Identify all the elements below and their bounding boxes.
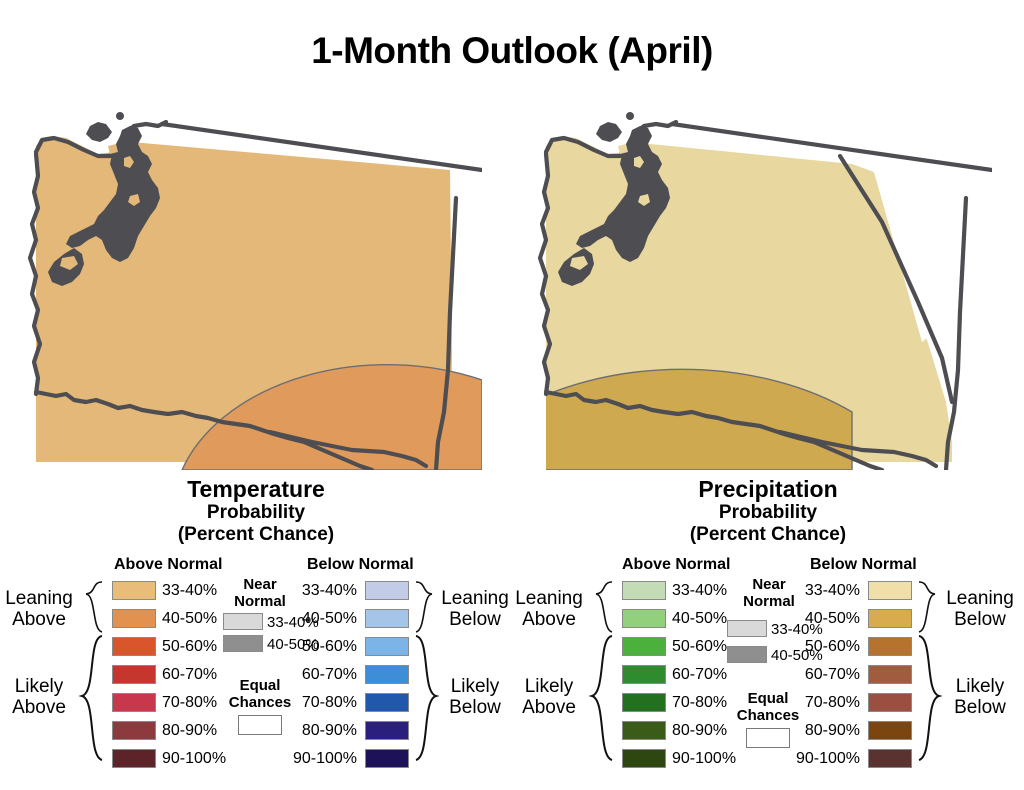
above-normal-header-precip: Above Normal — [622, 556, 730, 574]
temp-below-pct-60-70: 60-70% — [297, 665, 357, 684]
temp-above-pct-80-90: 80-90% — [162, 721, 217, 740]
likely-above-label-line2: Above — [0, 697, 78, 718]
temp-below-pct-50-60: 50-60% — [297, 637, 357, 656]
equal-chances-swatch[interactable] — [238, 715, 282, 735]
temp-below-pct-33-40: 33-40% — [297, 581, 357, 600]
temp-below-swatch-90-100[interactable] — [365, 749, 409, 768]
precip-below-swatch-60-70[interactable] — [868, 665, 912, 684]
legend-subtitle-probability-precip: Probability — [512, 502, 1024, 524]
precip-below-pct-80-90: 80-90% — [800, 721, 860, 740]
likely-below-label-precip-line2: Below — [938, 697, 1022, 718]
equal-chances-header-line2: Chances — [222, 694, 298, 711]
leaning-above-label-precip-line2: Above — [512, 609, 586, 630]
near-normal-header-precip-line1: Near — [734, 576, 804, 593]
temp-above-swatch-70-80[interactable] — [112, 693, 156, 712]
precip-near-normal-swatch-33-40[interactable] — [727, 620, 767, 637]
temp-above-swatch-40-50[interactable] — [112, 609, 156, 628]
temp-below-pct-70-80: 70-80% — [297, 693, 357, 712]
temp-above-pct-40-50: 40-50% — [162, 609, 217, 628]
likely-above-brace — [76, 634, 104, 762]
precip-near-normal-swatch-40-50[interactable] — [727, 646, 767, 663]
legend-subtitle-probability: Probability — [0, 502, 512, 524]
legend-subtitle-percent-chance: (Percent Chance) — [0, 524, 512, 546]
likely-below-label-line2: Below — [436, 697, 514, 718]
precip-above-pct-80-90: 80-90% — [672, 721, 727, 740]
temp-above-swatch-60-70[interactable] — [112, 665, 156, 684]
temp-below-swatch-60-70[interactable] — [365, 665, 409, 684]
precip-below-swatch-50-60[interactable] — [868, 637, 912, 656]
equal-chances-header-precip-line1: Equal — [730, 690, 806, 707]
temp-below-pct-80-90: 80-90% — [297, 721, 357, 740]
near-normal-header-line2: Normal — [225, 593, 295, 610]
precip-below-pct-40-50: 40-50% — [800, 609, 860, 628]
likely-below-label-line1: Likely — [436, 676, 514, 697]
precip-above-swatch-70-80[interactable] — [622, 693, 666, 712]
temp-above-pct-33-40: 33-40% — [162, 581, 217, 600]
precip-above-pct-33-40: 33-40% — [672, 581, 727, 600]
precip-below-swatch-33-40[interactable] — [868, 581, 912, 600]
likely-above-label-precip-line2: Above — [512, 697, 586, 718]
precip-above-pct-50-60: 50-60% — [672, 637, 727, 656]
leaning-above-brace-precip — [588, 580, 614, 634]
precip-above-pct-60-70: 60-70% — [672, 665, 727, 684]
precip-below-swatch-80-90[interactable] — [868, 721, 912, 740]
temp-near-normal-swatch-33-40[interactable] — [223, 613, 263, 630]
precipitation-outlook-map[interactable] — [522, 112, 992, 470]
precip-below-pct-50-60: 50-60% — [800, 637, 860, 656]
leaning-below-label-line2: Below — [436, 609, 514, 630]
temp-below-swatch-80-90[interactable] — [365, 721, 409, 740]
precip-below-swatch-40-50[interactable] — [868, 609, 912, 628]
leaning-below-label-precip-line1: Leaning — [938, 588, 1022, 609]
likely-above-label-precip-line1: Likely — [512, 676, 586, 697]
temp-above-pct-50-60: 50-60% — [162, 637, 217, 656]
precip-above-swatch-40-50[interactable] — [622, 609, 666, 628]
temp-below-pct-40-50: 40-50% — [297, 609, 357, 628]
legend-subtitle-percent-chance-precip: (Percent Chance) — [512, 524, 1024, 546]
leaning-below-label-line1: Leaning — [436, 588, 514, 609]
precipitation-legend-body: Above Normal Below Normal Leaning Above … — [512, 550, 1024, 765]
temp-below-swatch-40-50[interactable] — [365, 609, 409, 628]
leaning-above-brace — [78, 580, 104, 634]
temperature-outlook-map[interactable] — [12, 112, 482, 470]
temp-above-pct-90-100: 90-100% — [162, 749, 226, 768]
temp-above-swatch-50-60[interactable] — [112, 637, 156, 656]
likely-above-brace-precip — [586, 634, 614, 762]
leaning-above-label-line2: Above — [0, 609, 78, 630]
precip-below-pct-90-100: 90-100% — [795, 749, 860, 768]
precip-above-pct-40-50: 40-50% — [672, 609, 727, 628]
page-title: 1-Month Outlook (April) — [0, 30, 1024, 72]
leaning-above-label-precip-line1: Leaning — [512, 588, 586, 609]
temperature-legend: Temperature Probability (Percent Chance)… — [0, 476, 512, 790]
below-normal-header: Below Normal — [307, 556, 414, 574]
near-normal-header-precip-line2: Normal — [734, 593, 804, 610]
temp-below-pct-90-100: 90-100% — [292, 749, 357, 768]
precip-below-swatch-90-100[interactable] — [868, 749, 912, 768]
temp-below-swatch-50-60[interactable] — [365, 637, 409, 656]
precip-above-swatch-33-40[interactable] — [622, 581, 666, 600]
leaning-above-label-line1: Leaning — [0, 588, 78, 609]
leaning-below-label-precip-line2: Below — [938, 609, 1022, 630]
equal-chances-header-line1: Equal — [222, 677, 298, 694]
precipitation-legend: Precipitation Probability (Percent Chanc… — [512, 476, 1024, 790]
equal-chances-header-precip-line2: Chances — [730, 707, 806, 724]
below-normal-header-precip: Below Normal — [810, 556, 917, 574]
legend-title-temperature: Temperature — [0, 476, 512, 502]
precip-below-pct-70-80: 70-80% — [800, 693, 860, 712]
precip-below-swatch-70-80[interactable] — [868, 693, 912, 712]
temp-near-normal-swatch-40-50[interactable] — [223, 635, 263, 652]
temp-below-swatch-33-40[interactable] — [365, 581, 409, 600]
temp-above-swatch-90-100[interactable] — [112, 749, 156, 768]
legend-title-precipitation: Precipitation — [512, 476, 1024, 502]
precip-above-swatch-60-70[interactable] — [622, 665, 666, 684]
precipitation-map-graphic — [522, 112, 992, 470]
equal-chances-swatch-precip[interactable] — [746, 728, 790, 748]
likely-above-label-line1: Likely — [0, 676, 78, 697]
likely-below-label-precip-line1: Likely — [938, 676, 1022, 697]
temp-above-swatch-80-90[interactable] — [112, 721, 156, 740]
temperature-legend-body: Above Normal Below Normal Leaning Above … — [0, 550, 512, 765]
precip-above-swatch-50-60[interactable] — [622, 637, 666, 656]
temp-below-swatch-70-80[interactable] — [365, 693, 409, 712]
temp-above-swatch-33-40[interactable] — [112, 581, 156, 600]
precip-above-pct-70-80: 70-80% — [672, 693, 727, 712]
precip-above-swatch-90-100[interactable] — [622, 749, 666, 768]
temperature-map-graphic — [12, 112, 482, 470]
temp-above-pct-70-80: 70-80% — [162, 693, 217, 712]
temp-above-pct-60-70: 60-70% — [162, 665, 217, 684]
precip-above-pct-90-100: 90-100% — [672, 749, 736, 768]
precip-below-pct-33-40: 33-40% — [800, 581, 860, 600]
near-normal-header-line1: Near — [225, 576, 295, 593]
above-normal-header: Above Normal — [114, 556, 222, 574]
precip-below-pct-60-70: 60-70% — [800, 665, 860, 684]
precip-above-swatch-80-90[interactable] — [622, 721, 666, 740]
